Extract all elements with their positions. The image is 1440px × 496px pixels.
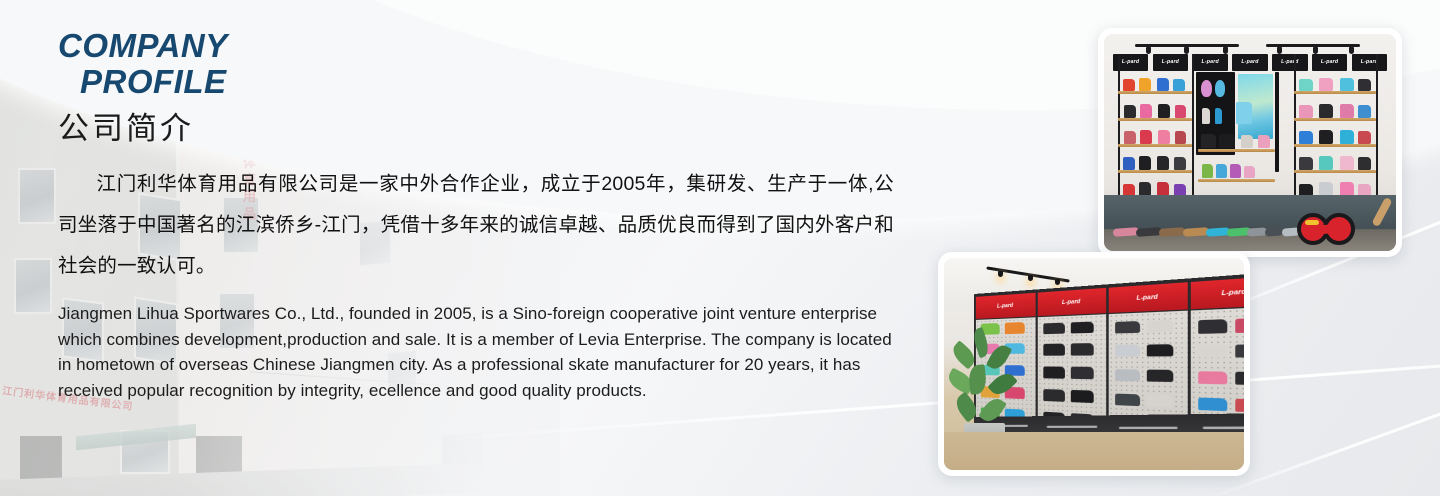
skate-product bbox=[1358, 131, 1371, 143]
skate-product bbox=[1258, 135, 1270, 147]
skate-product bbox=[1236, 399, 1244, 414]
skate-product bbox=[1139, 156, 1151, 170]
brand-sign: L-pard bbox=[1232, 54, 1268, 71]
skate-product bbox=[1236, 102, 1251, 124]
skate-product bbox=[1158, 104, 1170, 118]
skate-product bbox=[1358, 105, 1371, 117]
brand-banner: L-pard bbox=[976, 292, 1035, 319]
brand-sign: L-pard bbox=[1153, 54, 1189, 71]
showroom-shelf-scene: L-pard L-pard L-pard L-pard L-pard L-par… bbox=[1104, 34, 1396, 251]
skateboard-product bbox=[1264, 227, 1283, 236]
skate-product bbox=[1236, 372, 1244, 386]
photo-showroom-shelf-wall: L-pard L-pard L-pard L-pard L-pard L-par… bbox=[1104, 34, 1396, 251]
skate-product bbox=[1044, 389, 1066, 401]
skate-product bbox=[1198, 397, 1227, 411]
page-title: COMPANY PROFILE bbox=[58, 28, 918, 100]
skate-product bbox=[1319, 156, 1333, 170]
skate-product bbox=[1123, 157, 1135, 169]
shelf bbox=[1294, 118, 1376, 121]
skate-product bbox=[1319, 130, 1333, 144]
shelf bbox=[1294, 170, 1376, 173]
display-panel bbox=[1275, 72, 1279, 172]
skate-product bbox=[1044, 344, 1066, 356]
skate-product bbox=[1219, 134, 1234, 148]
skate-product bbox=[1115, 369, 1140, 382]
plant-leaf bbox=[971, 327, 992, 358]
shelf bbox=[1294, 144, 1376, 147]
skate-product bbox=[1358, 79, 1371, 91]
skate-product bbox=[1124, 105, 1136, 117]
paragraph-english: Jiangmen Lihua Sportwares Co., Ltd., fou… bbox=[58, 301, 894, 403]
title-line-profile: PROFILE bbox=[80, 64, 918, 100]
skate-product bbox=[1340, 130, 1354, 144]
skate-product bbox=[1202, 164, 1213, 178]
brand-sign: L-pard bbox=[1312, 54, 1348, 71]
shelf-column-right bbox=[1294, 72, 1376, 209]
protective-gear bbox=[1202, 108, 1210, 124]
plant-leaf bbox=[952, 392, 982, 423]
spot-lamp-icon bbox=[1028, 275, 1033, 281]
skate-product bbox=[1299, 157, 1313, 169]
shelf bbox=[1118, 91, 1192, 94]
brand-sign: L-pard bbox=[1352, 54, 1388, 71]
skate-product bbox=[1147, 344, 1174, 357]
skate-product bbox=[1230, 164, 1241, 178]
spot-lamp-icon bbox=[998, 271, 1003, 277]
shelf-rack: L-pard L-pard L-pard L-pard L-pard L-par… bbox=[1113, 54, 1387, 210]
spot-lamp-icon bbox=[1055, 279, 1060, 285]
skate-product bbox=[1115, 393, 1140, 406]
paragraph-chinese: 江门利华体育用品有限公司是一家中外合作企业，成立于2005年，集研发、生产于一体… bbox=[58, 164, 894, 287]
protective-gear bbox=[1215, 108, 1223, 124]
skate-product bbox=[1139, 78, 1151, 92]
skate-product bbox=[1198, 319, 1227, 333]
brand-banner: L-pard bbox=[1038, 287, 1106, 316]
skate-product bbox=[1124, 131, 1136, 143]
skate-product bbox=[1319, 104, 1333, 118]
skate-product bbox=[1140, 130, 1152, 144]
brand-sign: L-pard bbox=[1192, 54, 1228, 71]
company-profile-banner: 利华体育用品 江门利华体育用品有限公司 COMPANY PROFILE 公司简介… bbox=[0, 0, 1440, 496]
skate-product bbox=[1147, 394, 1174, 408]
skate-product bbox=[1123, 79, 1135, 91]
title-line-company: COMPANY bbox=[58, 27, 228, 64]
shelf bbox=[1294, 91, 1376, 94]
skate-product bbox=[1157, 78, 1169, 92]
helmet-product bbox=[1215, 80, 1226, 96]
skate-product bbox=[1175, 131, 1186, 143]
skate-product bbox=[1299, 131, 1313, 143]
skate-product bbox=[1236, 318, 1244, 333]
photo-showroom-pegboard-wall: L-pard L-pard L-pard L-pard bbox=[944, 258, 1244, 470]
skateboard-product bbox=[1159, 227, 1185, 237]
rack-post bbox=[1192, 54, 1194, 210]
skate-product bbox=[1147, 320, 1174, 333]
skate-product bbox=[1158, 130, 1170, 144]
skate-product bbox=[1115, 344, 1140, 357]
plinth-label bbox=[1118, 426, 1177, 428]
plant-leaf bbox=[979, 394, 1008, 425]
skate-product bbox=[1071, 390, 1094, 403]
plinth-label bbox=[1202, 427, 1244, 430]
kids-bike-product bbox=[1297, 203, 1355, 245]
skate-product bbox=[1244, 166, 1255, 178]
skate-product bbox=[1299, 105, 1313, 117]
skate-product bbox=[1140, 104, 1152, 118]
skate-product bbox=[1115, 321, 1140, 334]
photo-card-showroom-shelf-wall[interactable]: L-pard L-pard L-pard L-pard L-pard L-par… bbox=[1098, 28, 1402, 257]
plant-leaf bbox=[987, 368, 1018, 399]
skate-product bbox=[1216, 164, 1227, 178]
skate-product bbox=[1340, 78, 1354, 92]
skate-product bbox=[1236, 344, 1244, 358]
skate-product bbox=[1299, 79, 1313, 91]
shelf-column-center bbox=[1198, 72, 1275, 209]
plant-leaf bbox=[967, 364, 987, 395]
skate-product bbox=[1174, 157, 1186, 169]
skate-product bbox=[1358, 157, 1371, 169]
skate-product bbox=[1340, 104, 1354, 118]
profile-text-block: COMPANY PROFILE 公司简介 江门利华体育用品有限公司是一家中外合作… bbox=[58, 28, 918, 403]
skate-product bbox=[1198, 345, 1227, 358]
plinth-label bbox=[1046, 425, 1097, 427]
shelf bbox=[1118, 170, 1192, 173]
shelf bbox=[1198, 149, 1275, 152]
brand-sign-row: L-pard L-pard L-pard L-pard L-pard L-par… bbox=[1113, 54, 1387, 71]
skate-product bbox=[1071, 321, 1094, 333]
helmet-product bbox=[1201, 80, 1212, 96]
skate-product bbox=[1071, 343, 1094, 355]
showroom-floor bbox=[944, 432, 1244, 470]
brand-sign: L-pard bbox=[1272, 54, 1308, 71]
brand-banner: L-pard bbox=[1109, 282, 1188, 313]
skate-product bbox=[1044, 367, 1066, 379]
skate-product bbox=[1157, 156, 1169, 170]
page-title-chinese: 公司简介 bbox=[58, 108, 918, 150]
photo-card-showroom-pegboard-wall[interactable]: L-pard L-pard L-pard L-pard bbox=[938, 252, 1250, 476]
showroom-pegboard-scene: L-pard L-pard L-pard L-pard bbox=[944, 258, 1244, 470]
paragraph-chinese-text: 江门利华体育用品有限公司是一家中外合作企业，成立于2005年，集研发、生产于一体… bbox=[58, 173, 894, 277]
skate-product bbox=[1071, 367, 1094, 379]
shelf bbox=[1198, 179, 1275, 182]
skate-product bbox=[1147, 369, 1174, 382]
brand-banner: L-pard bbox=[1191, 275, 1244, 309]
skate-product bbox=[1340, 156, 1354, 170]
skate-product bbox=[1319, 78, 1333, 92]
bike-seat bbox=[1305, 220, 1319, 225]
shelf-column-left bbox=[1118, 72, 1192, 209]
skate-product bbox=[1044, 322, 1066, 334]
plant-leaf bbox=[985, 342, 1011, 373]
rack-post bbox=[1376, 54, 1378, 210]
skate-product bbox=[1241, 135, 1253, 147]
skate-product bbox=[1173, 79, 1185, 91]
shelf bbox=[1118, 118, 1192, 121]
skate-product bbox=[1201, 134, 1216, 148]
skate-product bbox=[1198, 371, 1227, 385]
skate-product bbox=[1175, 105, 1186, 117]
shelf bbox=[1118, 144, 1192, 147]
